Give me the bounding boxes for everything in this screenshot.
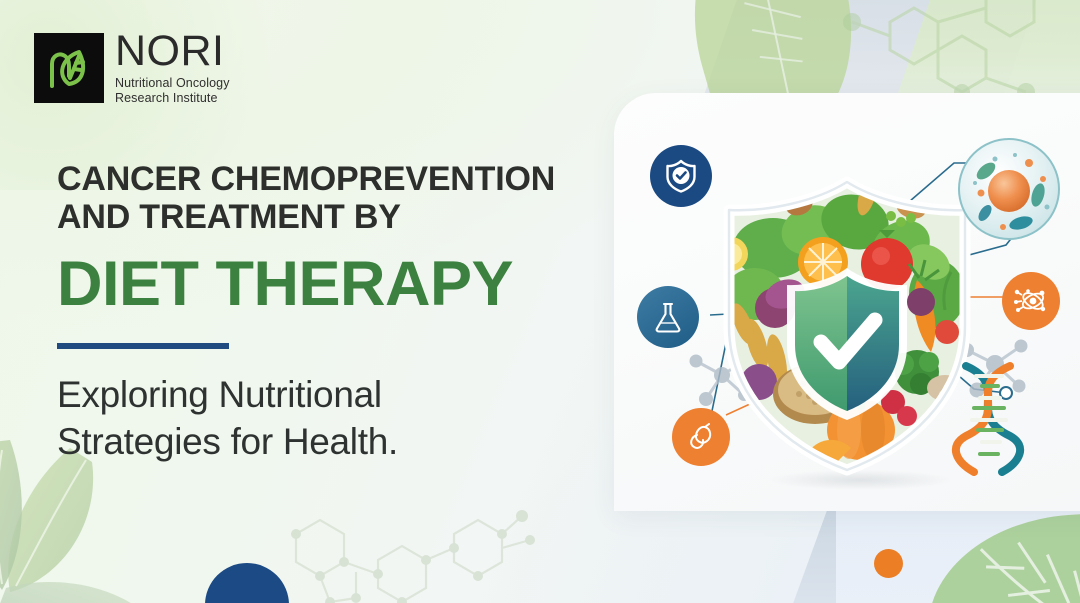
headline-block: CANCER CHEMOPREVENTION AND TREATMENT BY … xyxy=(57,160,657,466)
dna-helix-icon xyxy=(940,358,1040,476)
subhead-line-1: Exploring Nutritional xyxy=(57,371,657,418)
hero-heading: DIET THERAPY xyxy=(57,253,657,316)
hexagon-molecule-pattern-bottom xyxy=(286,498,586,603)
kicker-heading: CANCER CHEMOPREVENTION AND TREATMENT BY xyxy=(57,160,657,237)
biological-cell-icon xyxy=(955,135,1063,243)
logo-wordmark: NORI Nutritional Oncology Research Insti… xyxy=(115,30,230,107)
shield-check-badge[interactable] xyxy=(650,145,712,207)
logo-name: NORI xyxy=(115,30,230,73)
subhead: Exploring Nutritional Strategies for Hea… xyxy=(57,371,657,466)
seed-badge[interactable] xyxy=(672,408,730,466)
leaf-monogram-icon xyxy=(43,42,95,94)
atom-badge[interactable] xyxy=(1002,272,1060,330)
orange-circle-decor xyxy=(874,549,903,578)
atom-icon xyxy=(1014,284,1048,318)
banner-canvas: NORI Nutritional Oncology Research Insti… xyxy=(0,0,1080,603)
shield-check-icon xyxy=(664,159,698,193)
logo-mark xyxy=(34,33,104,103)
logo-tagline-line1: Nutritional Oncology xyxy=(115,76,230,91)
logo-tagline-line2: Research Institute xyxy=(115,91,230,106)
seed-sprout-icon xyxy=(685,421,717,453)
kicker-line-2: AND TREATMENT BY xyxy=(57,198,657,236)
leaf-decor-bottom-right xyxy=(921,511,1080,603)
heading-divider-rule xyxy=(57,343,229,349)
subhead-line-2: Strategies for Health. xyxy=(57,418,657,465)
brand-logo[interactable]: NORI Nutritional Oncology Research Insti… xyxy=(34,30,230,107)
kicker-line-1: CANCER CHEMOPREVENTION xyxy=(57,160,657,198)
bottom-right-panel-edge xyxy=(784,508,904,603)
logo-tagline: Nutritional Oncology Research Institute xyxy=(115,76,230,107)
bottom-right-panel xyxy=(836,508,1080,603)
navy-circle-decor xyxy=(205,563,289,603)
